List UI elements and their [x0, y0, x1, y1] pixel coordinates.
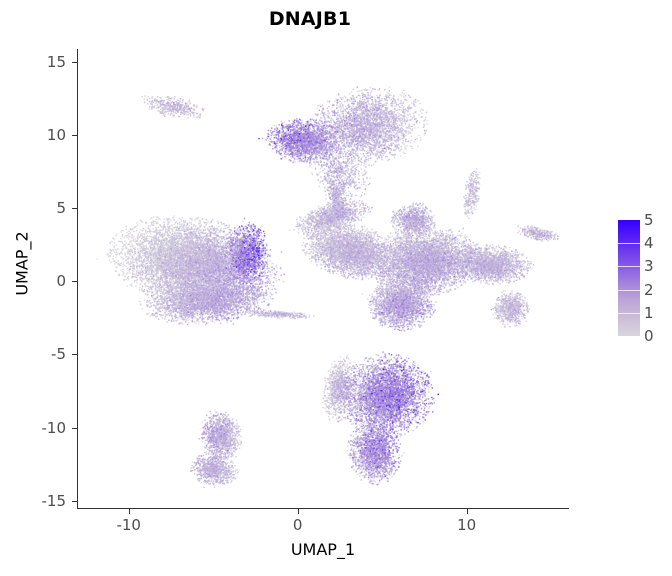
- colorbar-gradient: [618, 220, 640, 336]
- colorbar-tick-label: 1: [644, 304, 668, 322]
- y-tick-label: 15: [22, 53, 66, 71]
- colorbar-tick-label: 3: [644, 257, 668, 275]
- y-tick-mark: [72, 62, 77, 63]
- colorbar-tick-mark: [618, 243, 640, 244]
- umap-feature-plot: DNAJB1 -15-10-5051015 -10010 UMAP_1 UMAP…: [0, 0, 672, 576]
- y-tick-mark: [72, 281, 77, 282]
- scatter-point-cloud: [78, 50, 568, 508]
- y-tick-mark: [72, 135, 77, 136]
- y-tick-label: 10: [22, 126, 66, 144]
- y-tick-label: -15: [22, 492, 66, 510]
- x-tick-mark: [129, 509, 130, 514]
- x-tick-mark: [467, 509, 468, 514]
- x-axis-line: [77, 508, 569, 509]
- x-axis-label: UMAP_1: [78, 540, 568, 559]
- y-axis-line: [77, 49, 78, 509]
- y-tick-label: -10: [22, 419, 66, 437]
- colorbar-tick-label: 5: [644, 211, 668, 229]
- plot-panel: [78, 50, 568, 508]
- color-legend: 012345: [614, 220, 672, 338]
- x-tick-label: -10: [99, 516, 159, 534]
- colorbar-tick-mark: [618, 290, 640, 291]
- y-tick-mark: [72, 501, 77, 502]
- page-title: DNAJB1: [0, 8, 620, 30]
- colorbar-tick-label: 4: [644, 234, 668, 252]
- y-tick-mark: [72, 428, 77, 429]
- y-axis-label: UMAP_2: [13, 149, 32, 379]
- colorbar-tick-mark: [618, 266, 640, 267]
- y-tick-mark: [72, 354, 77, 355]
- x-tick-mark: [298, 509, 299, 514]
- y-tick-mark: [72, 208, 77, 209]
- x-tick-label: 10: [437, 516, 497, 534]
- colorbar-tick-label: 2: [644, 281, 668, 299]
- colorbar-tick-label: 0: [644, 327, 668, 345]
- colorbar-tick-mark: [618, 313, 640, 314]
- x-tick-label: 0: [268, 516, 328, 534]
